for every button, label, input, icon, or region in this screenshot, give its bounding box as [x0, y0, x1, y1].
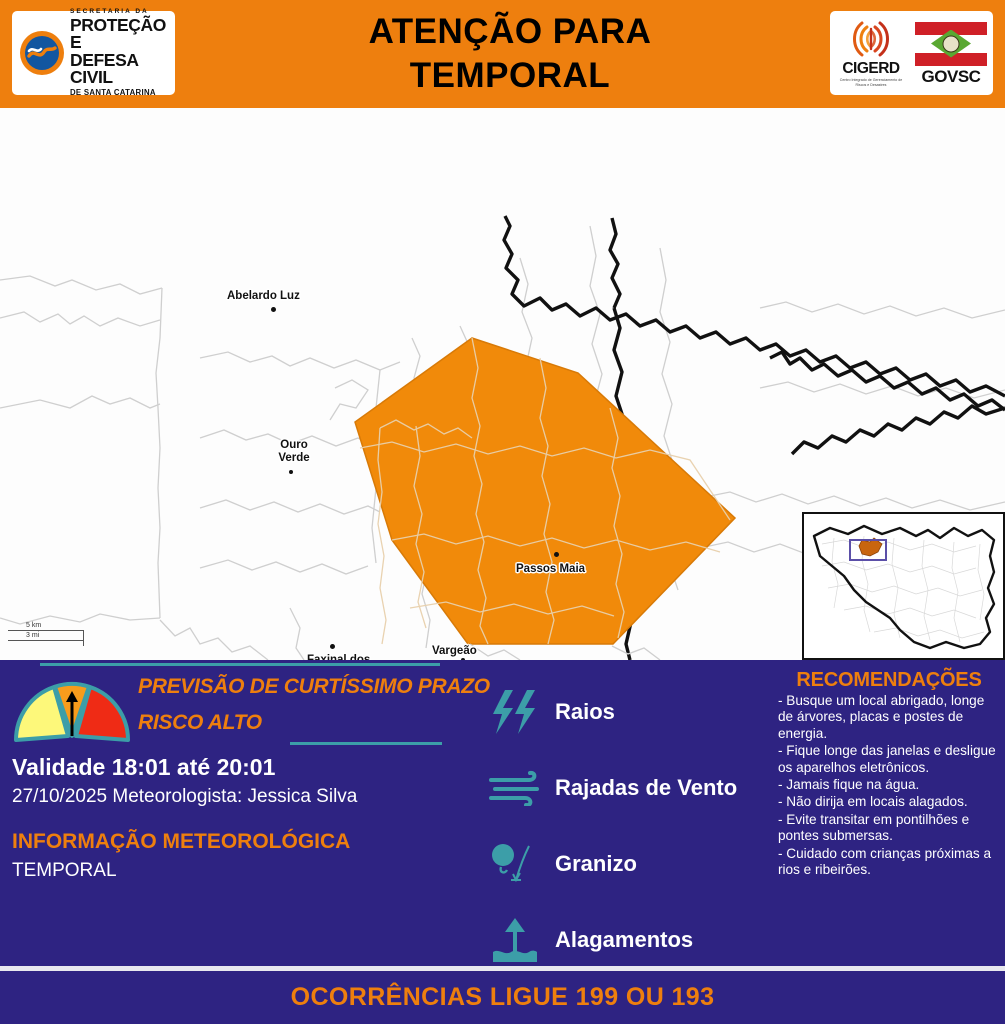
- recommendation-item: - Evite transitar em pontilhões e pontes…: [778, 812, 1000, 845]
- alert-map[interactable]: Abelardo Luz Ouro Verde Passos Maia Varg…: [0, 108, 1005, 660]
- divider-top: [40, 663, 440, 666]
- govsc-name: GOVSC: [922, 68, 981, 85]
- meteorological-info-heading: INFORMAÇÃO METEOROLÓGICA: [12, 830, 350, 854]
- scale-km-label: 5 km: [26, 622, 41, 629]
- hazard-item-granizo: Granizo: [485, 826, 775, 902]
- cigerd-arcs-icon: [842, 18, 900, 60]
- hazard-item-raios: Raios: [485, 674, 775, 750]
- city-label: Ouro Verde: [266, 439, 322, 465]
- page-title-line2: TEMPORAL: [200, 54, 820, 98]
- emergency-phone-text: OCORRÊNCIAS LIGUE 199 OU 193: [291, 983, 715, 1012]
- info-panel: PREVISÃO DE CURTÍSSIMO PRAZO RISCO ALTO …: [0, 660, 1005, 966]
- validity-text: Validade 18:01 até 20:01: [12, 754, 275, 781]
- city-label: Passos Maia: [516, 563, 585, 576]
- footer-bar: OCORRÊNCIAS LIGUE 199 OU 193: [0, 971, 1005, 1024]
- hazard-label: Alagamentos: [555, 927, 693, 953]
- wind-icon: [485, 762, 549, 814]
- hazard-item-rajadas-de-vento: Rajadas de Vento: [485, 750, 775, 826]
- hazard-list: Raios Rajadas de Vento: [485, 674, 775, 978]
- defesa-civil-badge-icon: [20, 31, 64, 75]
- recommendation-item: - Não dirija em locais alagados.: [778, 794, 1000, 810]
- inset-map-vectors: [804, 514, 1003, 658]
- risk-gauge: [12, 678, 132, 744]
- risk-gauge-icon: [12, 678, 132, 744]
- wave-mark-icon: [27, 45, 57, 61]
- recommendations-block: RECOMENDAÇÕES - Busque um local abrigado…: [778, 668, 1000, 878]
- cigerd-subtitle: Centro Integrado de Gerenciamento de Ris…: [835, 78, 907, 88]
- partner-logos: CIGERD Centro Integrado de Gerenciamento…: [830, 11, 993, 95]
- page-title: ATENÇÃO PARA TEMPORAL: [200, 10, 820, 98]
- recommendation-item: - Busque um local abrigado, longe de árv…: [778, 693, 1000, 742]
- forecast-label: PREVISÃO DE CURTÍSSIMO PRAZO: [138, 674, 448, 700]
- city-dot-icon: [554, 552, 559, 557]
- forecast-risk-block: PREVISÃO DE CURTÍSSIMO PRAZO RISCO ALTO: [138, 674, 448, 736]
- cigerd-logo: CIGERD Centro Integrado de Gerenciamento…: [835, 18, 907, 88]
- defesa-civil-logo: SECRETARIA DA PROTEÇÃO E DEFESA CIVIL DE…: [12, 11, 175, 95]
- recommendation-item: - Jamais fique na água.: [778, 777, 1000, 793]
- lightning-icon: [485, 686, 549, 738]
- cigerd-name: CIGERD: [842, 61, 899, 77]
- divider-risk: [290, 742, 442, 745]
- hazard-label: Raios: [555, 699, 615, 725]
- recommendation-item: - Cuidado com crianças próximas a rios e…: [778, 846, 1000, 879]
- page-title-line1: ATENÇÃO PARA: [200, 10, 820, 54]
- logo-line-santa-catarina: DE SANTA CATARINA: [70, 89, 167, 97]
- govsc-gov-text: GOV: [922, 67, 958, 86]
- recommendation-item: - Fique longe das janelas e desligue os …: [778, 743, 1000, 776]
- flood-icon: [485, 914, 549, 966]
- recommendations-title: RECOMENDAÇÕES: [778, 668, 1000, 692]
- hail-icon: [485, 838, 549, 890]
- scale-mi-label: 3 mi: [26, 632, 39, 639]
- hazard-label: Granizo: [555, 851, 637, 877]
- alert-page: SECRETARIA DA PROTEÇÃO E DEFESA CIVIL DE…: [0, 0, 1005, 1024]
- inset-locator-map[interactable]: [802, 512, 1005, 660]
- santa-catarina-flag-icon: [915, 22, 987, 66]
- date-meteorologist-text: 27/10/2025 Meteorologista: Jessica Silva: [12, 786, 357, 808]
- city-dot-icon: [271, 307, 276, 312]
- logo-line-protecao: PROTEÇÃO E: [70, 17, 167, 52]
- city-label: Abelardo Luz: [227, 290, 300, 303]
- map-scale-bar: 5 km 3 mi: [8, 630, 94, 646]
- govsc-logo: GOVSC: [914, 22, 988, 85]
- risk-level-label: RISCO ALTO: [138, 710, 448, 736]
- govsc-sc-text: SC: [958, 67, 981, 86]
- city-dot-icon: [330, 644, 335, 649]
- city-dot-icon: [289, 470, 293, 474]
- meteorological-info-body: TEMPORAL: [12, 860, 117, 882]
- logo-line-defesa-civil: DEFESA CIVIL: [70, 52, 167, 87]
- hazard-label: Rajadas de Vento: [555, 775, 737, 801]
- city-label: Vargeão: [432, 645, 477, 658]
- header-bar: SECRETARIA DA PROTEÇÃO E DEFESA CIVIL DE…: [0, 0, 1005, 108]
